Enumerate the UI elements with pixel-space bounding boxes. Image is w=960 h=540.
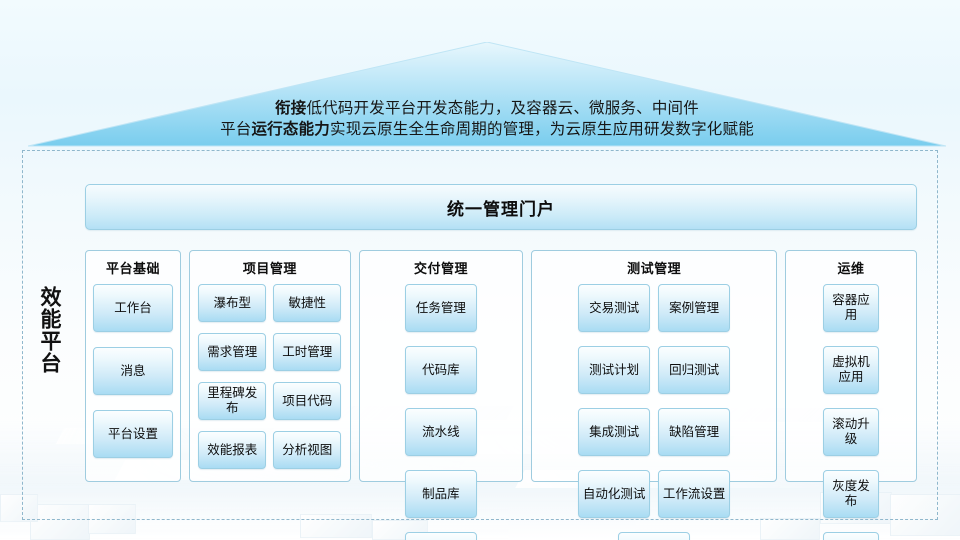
column-tile-grid: 瀑布型 敏捷性 需求管理 工时管理 里程碑发布 项目代码 效能报表 分析视图: [197, 284, 343, 469]
column-title: 运维: [838, 258, 865, 280]
slide-canvas: 衔接低代码开发平台开发态能力，及容器云、微服务、中间件 平台运行态能力实现云原生…: [0, 0, 960, 540]
tile-jiaoyiceshi[interactable]: 交易测试: [578, 284, 650, 332]
roof-line-1-rest: 低代码开发平台开发态能力，及容器云、微服务、中间件: [306, 100, 699, 117]
roof-line-2-bold: 运行态能力: [251, 121, 330, 138]
tile-rongqiyingyong[interactable]: 容器应用: [823, 284, 879, 332]
tile-pubuxing[interactable]: 瀑布型: [198, 284, 266, 322]
tile-xiaonengbaobiao[interactable]: 效能报表: [198, 431, 266, 469]
roof-banner: 衔接低代码开发平台开发态能力，及容器云、微服务、中间件 平台运行态能力实现云原生…: [28, 42, 946, 148]
tile-daimaku[interactable]: 代码库: [405, 346, 477, 394]
tile-gongzuotai[interactable]: 工作台: [93, 284, 173, 332]
tile-liushuixian[interactable]: 流水线: [405, 408, 477, 456]
roof-line-2: 平台运行态能力实现云原生全生命周期的管理，为云原生应用研发数字化赋能: [220, 119, 754, 140]
column-title: 测试管理: [627, 258, 681, 280]
tile-gongzuoliushezhi[interactable]: 工作流设置: [658, 470, 730, 518]
column-platform-base: 平台基础 工作台 消息 平台设置: [85, 250, 181, 482]
platform-side-label: 效能平台: [32, 286, 66, 374]
column-project-management: 项目管理 瀑布型 敏捷性 需求管理 工时管理 里程碑发布 项目代码 效能报表 分…: [189, 250, 351, 482]
tile-fenxishitu[interactable]: 分析视图: [273, 431, 341, 469]
column-tile-grid: 任务管理 代码库 流水线 制品库 资源定义 环境管理: [367, 284, 516, 540]
column-tile-grid: 交易测试 案例管理 测试计划 回归测试 集成测试 缺陷管理 自动化测试 工作流设…: [539, 284, 769, 540]
tile-ceshijihua[interactable]: 测试计划: [578, 346, 650, 394]
column-tile-grid: 容器应用 虚拟机应用 滚动升级 灰度发布 应用监控 应用告警: [793, 284, 909, 540]
tile-quexianguanli[interactable]: 缺陷管理: [658, 408, 730, 456]
tile-xunijiyingyong[interactable]: 虚拟机应用: [823, 346, 879, 394]
tile-ziyuandingyi[interactable]: 资源定义: [405, 532, 477, 540]
tile-yingyongjiankong[interactable]: 应用监控: [823, 532, 879, 540]
unified-portal-banner[interactable]: 统一管理门户: [85, 184, 917, 230]
tile-xiangmudaima[interactable]: 项目代码: [273, 382, 341, 420]
column-tile-grid: 工作台 消息 平台设置: [93, 284, 173, 458]
tile-jichengceshi[interactable]: 集成测试: [578, 408, 650, 456]
tile-anliguanli[interactable]: 案例管理: [658, 284, 730, 332]
tile-huidufabu[interactable]: 灰度发布: [823, 470, 879, 518]
column-delivery-management: 交付管理 任务管理 代码库 流水线 制品库 资源定义 环境管理: [359, 250, 524, 482]
tile-ceshifabu[interactable]: 测试发布: [618, 532, 690, 540]
tile-xuqiuguanli[interactable]: 需求管理: [198, 333, 266, 371]
tile-huiguiceshi[interactable]: 回归测试: [658, 346, 730, 394]
roof-line-1: 衔接低代码开发平台开发态能力，及容器云、微服务、中间件: [275, 98, 699, 119]
column-operations: 运维 容器应用 虚拟机应用 滚动升级 灰度发布 应用监控 应用告警: [785, 250, 917, 482]
capability-columns: 平台基础 工作台 消息 平台设置 项目管理 瀑布型 敏捷性 需求管理 工时管理 …: [85, 250, 917, 482]
tile-zhipinku[interactable]: 制品库: [405, 470, 477, 518]
column-title: 交付管理: [414, 258, 468, 280]
roof-line-1-bold: 衔接: [275, 100, 306, 117]
column-title: 项目管理: [243, 258, 297, 280]
tile-pingtaishezhi[interactable]: 平台设置: [93, 410, 173, 458]
column-test-management: 测试管理 交易测试 案例管理 测试计划 回归测试 集成测试 缺陷管理 自动化测试…: [531, 250, 777, 482]
tile-xiaoxi[interactable]: 消息: [93, 347, 173, 395]
tile-zidonghuaceshi[interactable]: 自动化测试: [578, 470, 650, 518]
tile-renwuguanli[interactable]: 任务管理: [405, 284, 477, 332]
column-title: 平台基础: [106, 258, 160, 280]
roof-line-2-pre: 平台: [220, 121, 251, 138]
unified-portal-title: 统一管理门户: [447, 195, 555, 220]
tile-lichengbeifabu[interactable]: 里程碑发布: [198, 382, 266, 420]
tile-minjiexing[interactable]: 敏捷性: [273, 284, 341, 322]
tile-gongshiguanli[interactable]: 工时管理: [273, 333, 341, 371]
tile-gundongshengji[interactable]: 滚动升级: [823, 408, 879, 456]
roof-line-2-rest: 实现云原生全生命周期的管理，为云原生应用研发数字化赋能: [330, 121, 754, 138]
